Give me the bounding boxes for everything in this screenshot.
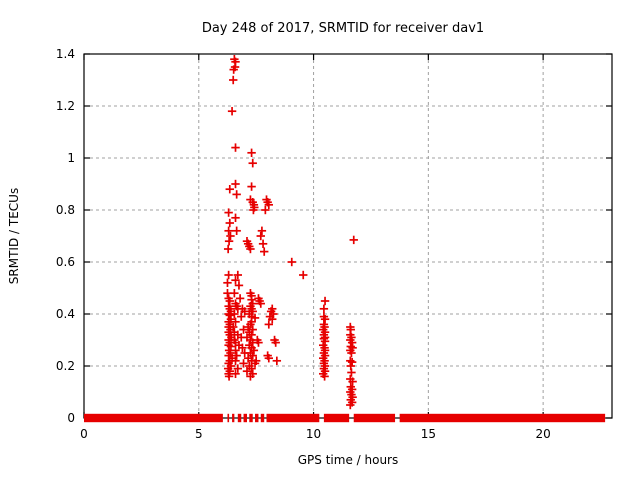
- x-axis-label: GPS time / hours: [298, 453, 399, 467]
- baseline-marker-band: [255, 414, 258, 422]
- x-tick-label: 5: [195, 427, 203, 441]
- y-tick-label: 1: [67, 151, 75, 165]
- baseline-marker-band: [324, 414, 349, 422]
- baseline-markers: [84, 414, 605, 422]
- baseline-marker-band: [249, 414, 252, 422]
- baseline-marker-band: [354, 414, 395, 422]
- x-tick-label: 15: [421, 427, 436, 441]
- plot-canvas: Day 248 of 2017, SRMTID for receiver dav…: [0, 0, 640, 480]
- y-tick-label: 0.2: [56, 359, 75, 373]
- scatter-plot-figure: Day 248 of 2017, SRMTID for receiver dav…: [0, 0, 640, 480]
- y-tick-label: 0: [67, 411, 75, 425]
- y-tick-label: 1.4: [56, 47, 75, 61]
- y-tick-label: 1.2: [56, 99, 75, 113]
- baseline-marker-band: [232, 414, 234, 422]
- baseline-marker-band: [227, 414, 229, 422]
- baseline-marker-band: [244, 414, 247, 422]
- baseline-marker-band: [267, 414, 320, 422]
- y-tick-label: 0.6: [56, 255, 75, 269]
- baseline-marker-band: [261, 414, 264, 422]
- baseline-marker-band: [238, 414, 241, 422]
- baseline-marker-band: [400, 414, 605, 422]
- y-tick-label: 0.8: [56, 203, 75, 217]
- y-axis-label: SRMTID / TECUs: [7, 188, 21, 284]
- x-tick-label: 10: [306, 427, 321, 441]
- chart-title: Day 248 of 2017, SRMTID for receiver dav…: [202, 21, 484, 36]
- baseline-marker-band: [84, 414, 223, 422]
- figure-background: [0, 0, 640, 480]
- x-tick-label: 0: [80, 427, 88, 441]
- y-tick-label: 0.4: [56, 307, 75, 321]
- x-tick-label: 20: [535, 427, 550, 441]
